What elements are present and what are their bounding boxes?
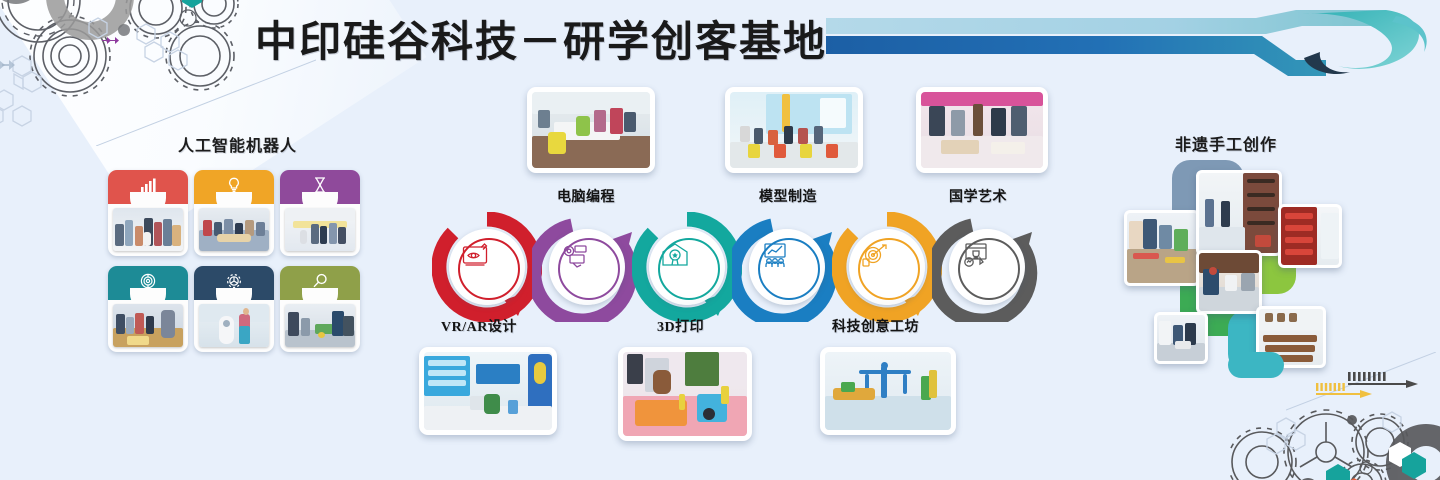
vr-design-icon [458,238,520,300]
ai-card-gear[interactable] [194,266,274,352]
ring-tech-creative-workshop[interactable] [832,212,942,322]
gear-icon [194,269,274,293]
trophy-browser-icon [958,238,1020,300]
ring-label-3d-printing: 3D打印 [657,316,704,336]
header-ribbon [826,8,1440,80]
target-icon [108,269,188,293]
striped-arrow-yellow [1316,383,1382,401]
cluster-blob-teal-lower [1228,352,1284,378]
ai-card-photo [199,208,269,251]
ring-vr-ar-design[interactable] [432,212,542,322]
ring-label-vr-ar-design: VR/AR设计 [441,316,517,336]
photo-frame-vr-showroom[interactable] [419,347,557,435]
hourglass-icon [280,173,360,197]
photo-exhibition-corridor[interactable] [1196,170,1282,256]
photo-image [1127,213,1197,283]
photo-image [1281,207,1339,265]
photo-frame-computer-programming[interactable] [527,87,655,173]
ai-card-photo [113,208,183,251]
ai-card-photo [285,304,355,347]
ai-card-hourglass[interactable] [280,170,360,256]
magnifier-icon [280,269,360,293]
photo-frame-robotics-model[interactable] [820,347,956,435]
photo-image [424,352,552,430]
process-ring-row [432,212,1044,322]
photo-label-guoxue-art: 国学艺术 [949,186,1007,206]
ai-card-photo [199,304,269,347]
presentation-group-icon [758,238,820,300]
bar-chart-icon [108,173,188,197]
ai-card-grid [108,170,366,355]
photo-label-model-making: 模型制造 [759,186,817,206]
ring-3d-printing[interactable] [632,212,742,322]
photo-frame-guoxue-art[interactable] [916,87,1048,173]
photo-visitors[interactable] [1154,312,1208,364]
photo-image [1199,173,1279,253]
ai-card-photo [285,208,355,251]
ring-achievement[interactable] [932,212,1042,322]
photo-image [825,352,951,430]
photo-image [623,352,747,436]
ring-computer-programming[interactable] [532,212,642,322]
photo-image [1199,253,1259,311]
computer-programming-icon [558,238,620,300]
heritage-photo-cluster [1096,158,1416,373]
ai-card-photo [113,304,183,347]
photo-label-computer-programming: 电脑编程 [557,186,615,206]
ai-card-target[interactable] [108,266,188,352]
photo-image [1157,315,1205,361]
photo-handicraft-workshop[interactable] [1124,210,1200,286]
page-title: 中印硅谷科技－研学创客基地 [255,8,827,69]
lightbulb-icon [194,173,274,197]
poster-canvas: 中印硅谷科技－研学创客基地 人工智能机器人 [0,0,1440,480]
ai-card-lightbulb[interactable] [194,170,274,256]
photo-image [921,92,1043,168]
photo-frame-model-making[interactable] [725,87,863,173]
photo-red-display-cabinet[interactable] [1278,204,1342,268]
photo-image [532,92,650,168]
target-arrow-icon [858,238,920,300]
photo-craftsman-bench[interactable] [1196,250,1262,314]
ring-presentation[interactable] [732,212,842,322]
model-badge-icon [658,238,720,300]
section-heading-ai-robot: 人工智能机器人 [178,132,297,156]
photo-frame-3d-printing-activity[interactable] [618,347,752,441]
section-heading-heritage-handicraft: 非遗手工创作 [1175,131,1277,155]
ai-card-bar-chart[interactable] [108,170,188,256]
ai-card-magnifier[interactable] [280,266,360,352]
photo-image [730,92,858,168]
ring-label-tech-creative-workshop: 科技创意工坊 [832,316,919,336]
